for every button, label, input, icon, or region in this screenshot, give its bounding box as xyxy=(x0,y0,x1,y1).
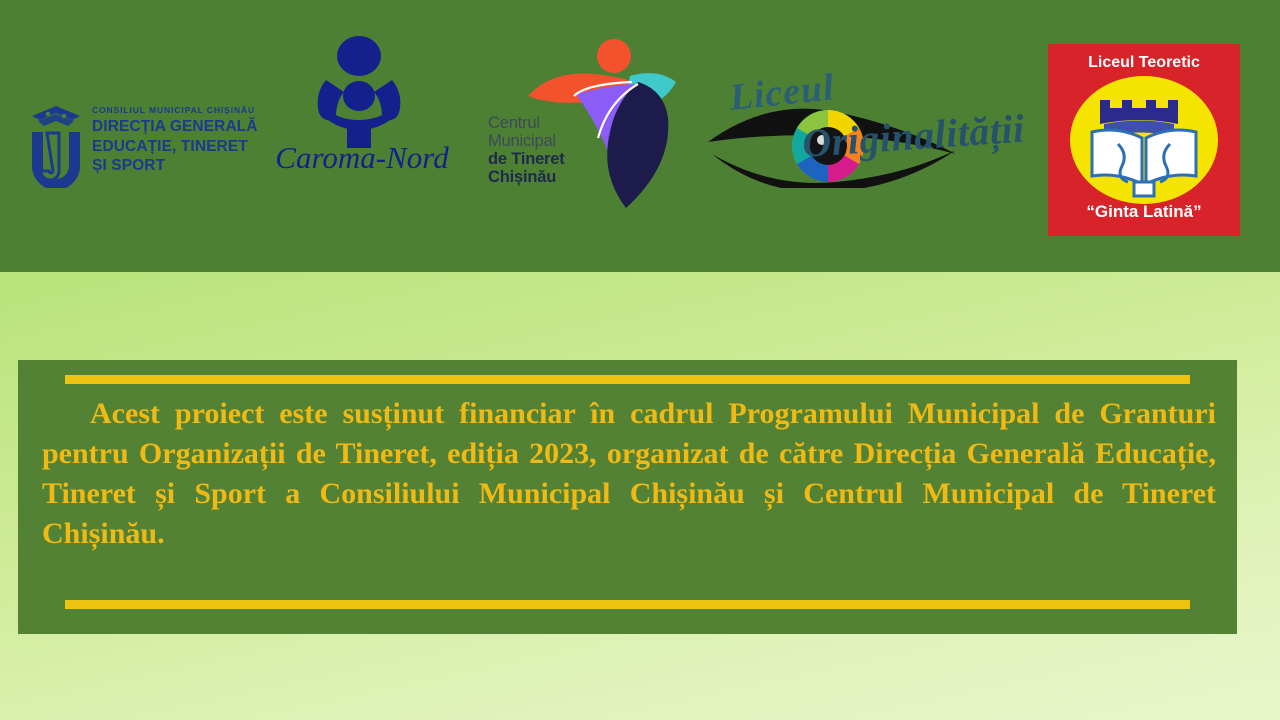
logo-cmt-line3: de Tineret xyxy=(488,150,565,168)
slide-canvas: CONSILIUL MUNICIPAL CHIȘINĂU DIRECȚIA GE… xyxy=(0,0,1280,720)
logo-cmt-line4: Chișinău xyxy=(488,168,565,186)
logo-liceul-teoretic-ginta-latina: Liceul Teoretic “Ginta Latină” xyxy=(1048,44,1240,236)
logo-dgets-line2: DIRECȚIA GENERALĂ xyxy=(92,117,282,137)
graduation-cap-monogram-icon xyxy=(28,102,84,188)
project-funding-note: Acest proiect este susținut financiar în… xyxy=(42,394,1216,594)
logo-dgets-text: CONSILIUL MUNICIPAL CHIȘINĂU DIRECȚIA GE… xyxy=(92,104,282,176)
logo-ginta-title: Liceul Teoretic xyxy=(1048,54,1240,72)
accent-rule-bottom xyxy=(65,600,1190,609)
logo-cmt-text: Centrul Municipal de Tineret Chișinău xyxy=(488,114,565,186)
logo-caroma-nord: Caroma-Nord xyxy=(264,36,460,182)
logo-caroma-nord-name: Caroma-Nord xyxy=(264,140,460,176)
logo-centrul-municipal-tineret: Centrul Municipal de Tineret Chișinău xyxy=(488,36,688,216)
castle-and-open-book-icon xyxy=(1070,74,1218,206)
logo-dgets-line3: EDUCAȚIE, TINERET xyxy=(92,137,282,157)
logo-ginta-subtitle: “Ginta Latină” xyxy=(1048,202,1240,222)
partner-logo-band: CONSILIUL MUNICIPAL CHIȘINĂU DIRECȚIA GE… xyxy=(0,0,1280,272)
logo-dgets-line4: ȘI SPORT xyxy=(92,156,282,176)
logo-liceul-originalitatii: Liceul Originalității xyxy=(706,78,1006,190)
logo-cmt-line2: Municipal xyxy=(488,132,565,150)
funding-note-panel: Acest proiect este susținut financiar în… xyxy=(18,360,1237,634)
logo-cmt-line1: Centrul xyxy=(488,114,565,132)
parent-and-child-icon xyxy=(296,36,422,148)
accent-rule-top xyxy=(65,375,1190,384)
logo-dgets-line1: CONSILIUL MUNICIPAL CHIȘINĂU xyxy=(92,104,282,117)
logo-dgets-chisinau: CONSILIUL MUNICIPAL CHIȘINĂU DIRECȚIA GE… xyxy=(28,100,278,192)
